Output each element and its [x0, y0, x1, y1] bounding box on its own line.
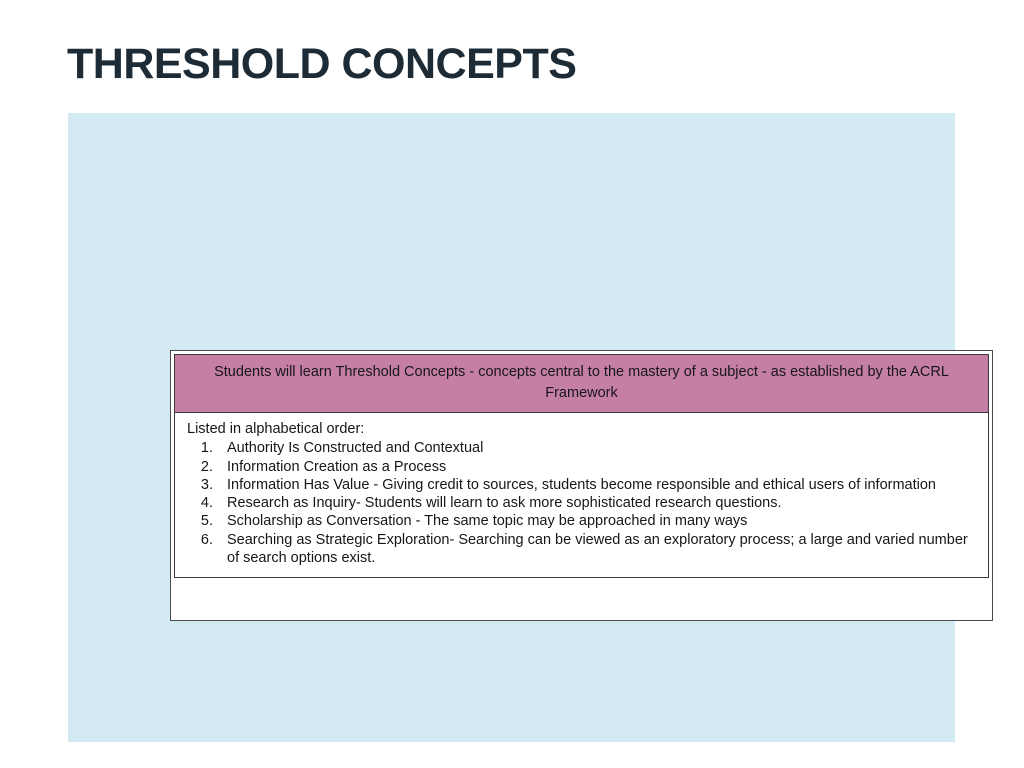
list-item-text: Research as Inquiry- Students will learn…	[227, 494, 976, 512]
list-item: 6.Searching as Strategic Exploration- Se…	[185, 531, 976, 568]
list-item-number: 5.	[185, 512, 227, 530]
list-item-number: 1.	[185, 439, 227, 457]
list-item: 2.Information Creation as a Process	[185, 458, 976, 476]
list-item-text: Information Creation as a Process	[227, 458, 976, 476]
list-item-number: 2.	[185, 458, 227, 476]
banner-text: Students will learn Threshold Concepts -…	[197, 362, 966, 403]
table-body-row: Listed in alphabetical order: 1.Authorit…	[174, 413, 989, 578]
concepts-table: Students will learn Threshold Concepts -…	[170, 350, 993, 621]
page-title: THRESHOLD CONCEPTS	[67, 43, 576, 86]
list-item: 4.Research as Inquiry- Students will lea…	[185, 494, 976, 512]
list-item-text: Searching as Strategic Exploration- Sear…	[227, 531, 976, 568]
list-intro-label: Listed in alphabetical order:	[185, 420, 976, 438]
list-item-number: 4.	[185, 494, 227, 512]
list-item-text: Authority Is Constructed and Contextual	[227, 439, 976, 457]
concepts-list: 1.Authority Is Constructed and Contextua…	[185, 439, 976, 567]
list-item: 3.Information Has Value - Giving credit …	[185, 476, 976, 494]
content-panel: Students will learn Threshold Concepts -…	[68, 113, 955, 742]
table-header-row: Students will learn Threshold Concepts -…	[174, 354, 989, 413]
list-item-number: 6.	[185, 531, 227, 549]
list-item-text: Scholarship as Conversation - The same t…	[227, 512, 976, 530]
list-item-number: 3.	[185, 476, 227, 494]
list-item: 5.Scholarship as Conversation - The same…	[185, 512, 976, 530]
list-item: 1.Authority Is Constructed and Contextua…	[185, 439, 976, 457]
list-item-text: Information Has Value - Giving credit to…	[227, 476, 976, 494]
